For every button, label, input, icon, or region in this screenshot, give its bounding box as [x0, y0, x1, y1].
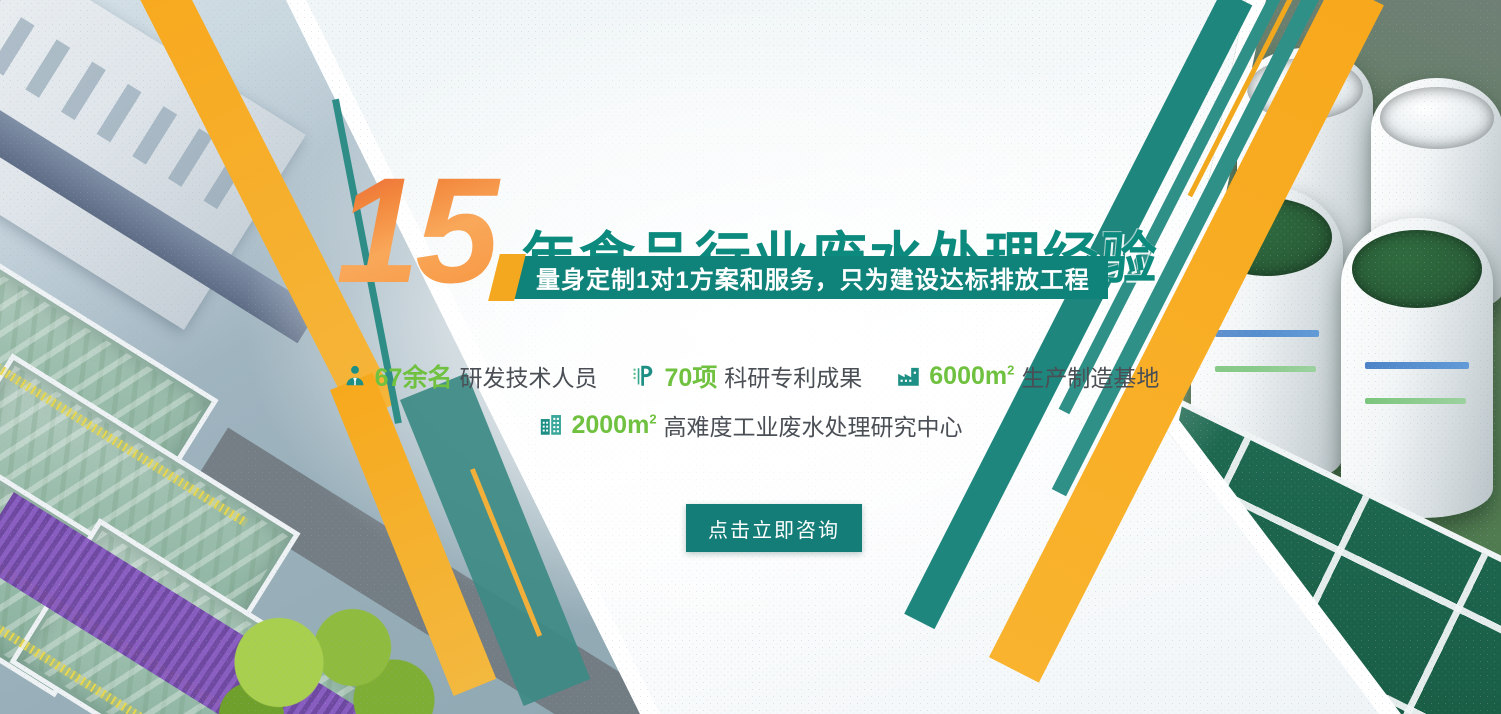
feature-number: 2000m2	[571, 411, 656, 440]
feature-item-factory: 6000m2 生产制造基地	[896, 359, 1159, 393]
subtitle-text: 量身定制1对1方案和服务，只为建设达标排放工程	[536, 260, 1090, 295]
feature-row-secondary: 2000m2 高难度工业废水处理研究中心	[538, 408, 962, 442]
consult-now-button[interactable]: 点击立即咨询	[686, 504, 862, 552]
consult-now-label: 点击立即咨询	[708, 514, 840, 543]
feature-text: 高难度工业废水处理研究中心	[664, 408, 963, 442]
banner-content: 15 15 年食品行业废水处理经验 量身定制1对1方案和服务，只为建设达标排放工…	[0, 0, 1501, 714]
feature-number: 70项	[664, 358, 717, 394]
subtitle-bar: 量身定制1对1方案和服务，只为建设达标排放工程	[510, 256, 1108, 299]
person-icon	[342, 363, 368, 389]
years-number: 15	[336, 160, 501, 301]
feature-text: 研发技术人员	[459, 359, 597, 393]
feature-item-patents: 70项 科研专利成果	[631, 358, 862, 394]
feature-row-primary: 67余名 研发技术人员 70项 科研专利成果	[342, 358, 1160, 394]
factory-icon	[896, 363, 922, 389]
feature-number: 67余名	[375, 358, 453, 394]
feature-text: 科研专利成果	[724, 359, 862, 393]
feature-text: 生产制造基地	[1021, 359, 1159, 393]
feature-number: 6000m2	[929, 362, 1014, 391]
feature-list: 67余名 研发技术人员 70项 科研专利成果	[0, 358, 1501, 442]
building-icon	[538, 412, 564, 438]
hero-banner: 15 15 年食品行业废水处理经验 量身定制1对1方案和服务，只为建设达标排放工…	[0, 0, 1501, 714]
feature-item-staff: 67余名 研发技术人员	[342, 358, 598, 394]
patent-icon	[631, 363, 657, 389]
feature-item-research-center: 2000m2 高难度工业废水处理研究中心	[538, 408, 962, 442]
years-number-wrap: 15 15	[336, 160, 501, 301]
